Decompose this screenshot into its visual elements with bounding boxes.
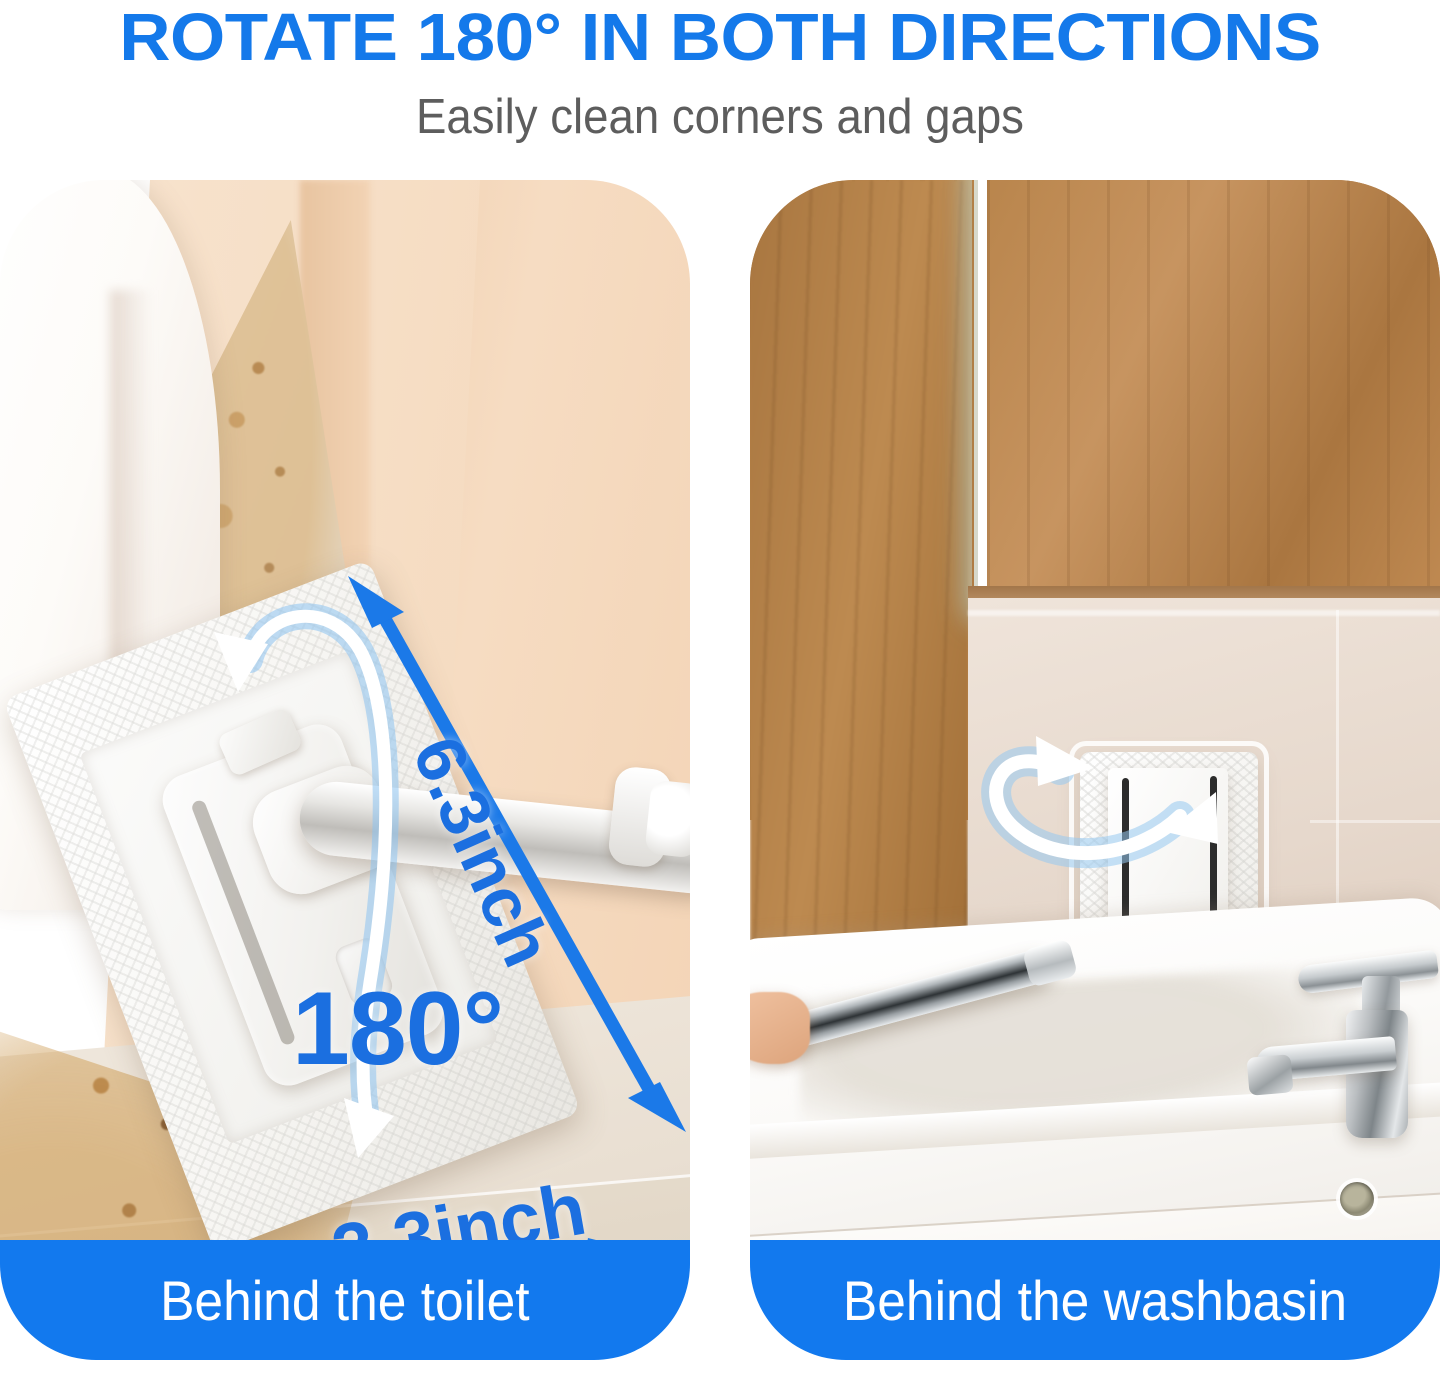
caption-bar-behind-the-washbasin: Behind the washbasin: [750, 1240, 1440, 1360]
caption-bar-behind-the-toilet: Behind the toilet: [0, 1240, 690, 1360]
page-title: ROTATE 180° IN BOTH DIRECTIONS: [0, 2, 1440, 74]
toilet-corner-photo: [0, 180, 690, 1360]
mop-head-button: [332, 935, 395, 1009]
hand-holding-rod: [750, 992, 810, 1064]
panel-behind-the-washbasin: 180°: [750, 180, 1440, 1360]
faucet-aerator: [1246, 1054, 1293, 1096]
overflow-drain-icon: [1340, 1182, 1374, 1216]
faucet-body: [1346, 1010, 1408, 1138]
wall-top-seam: [968, 610, 1440, 616]
caption-label-right: Behind the washbasin: [843, 1268, 1347, 1333]
washbasin-photo: [750, 180, 1440, 1360]
header-banner: ROTATE 180° IN BOTH DIRECTIONS Easily cl…: [0, 0, 1440, 170]
tile-grout-horizontal-1: [1310, 820, 1440, 823]
page-subtitle: Easily clean corners and gaps: [50, 88, 1389, 146]
bathroom-mirror: [978, 180, 1440, 606]
panel-behind-the-toilet: 6.3inch 180° 3.3inch: [0, 180, 690, 1360]
mop-pole-cap: [644, 779, 690, 858]
caption-label-left: Behind the toilet: [160, 1268, 529, 1333]
